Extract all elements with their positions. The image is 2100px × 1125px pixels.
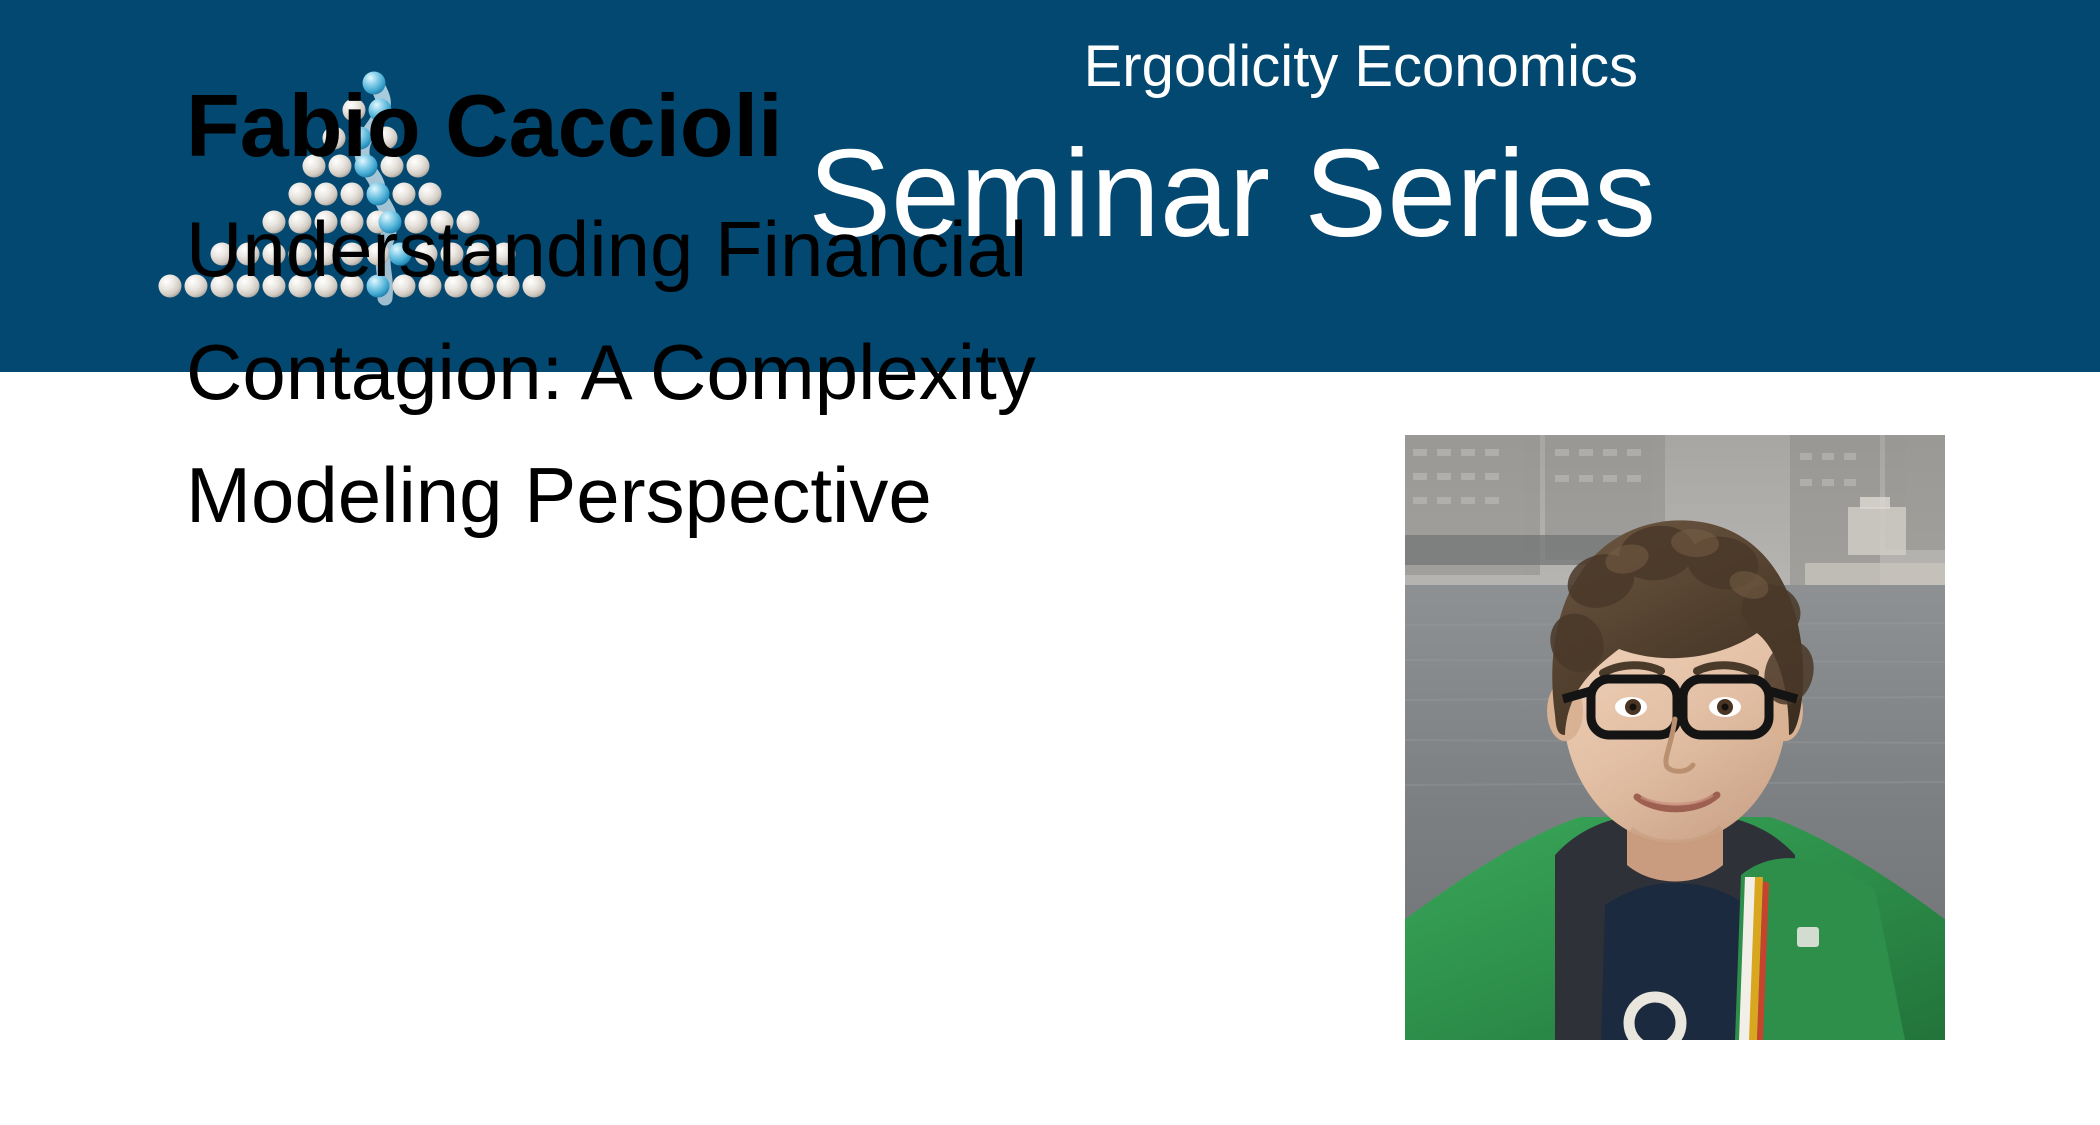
talk-title-line-2: Contagion: A Complexity: [186, 333, 1336, 411]
speaker-name: Fabio Caccioli: [186, 80, 1336, 172]
talk-title-line-3: Modeling Perspective: [186, 456, 1336, 534]
talk-title-line-1: Understanding Financial: [186, 210, 1336, 288]
speaker-info-block: Fabio Caccioli Understanding Financial C…: [186, 80, 1336, 534]
speaker-photo: [1405, 435, 1945, 1040]
